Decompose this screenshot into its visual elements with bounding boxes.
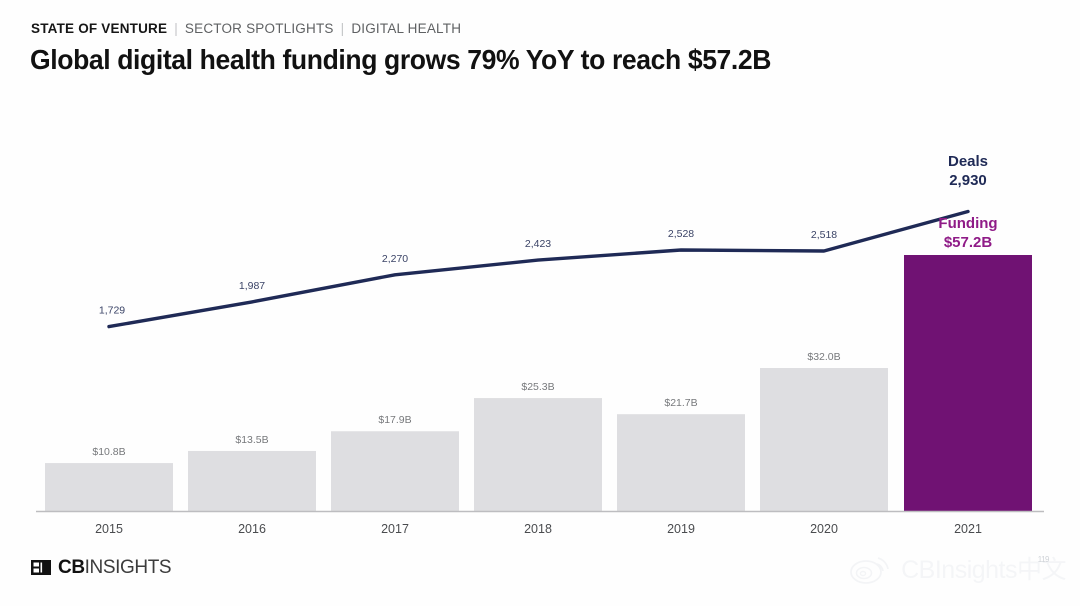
bar-label-2018: $25.3B bbox=[521, 381, 554, 393]
deals-label-2017: 2,270 bbox=[382, 253, 408, 265]
bar-label-2017: $17.9B bbox=[378, 414, 411, 426]
bar-label-2015: $10.8B bbox=[92, 446, 125, 458]
deals-value-labels: 1,729 1,987 2,270 2,423 2,528 2,518 bbox=[99, 228, 837, 317]
x-axis-labels: 2015 2016 2017 2018 2019 2020 2021 bbox=[95, 522, 982, 536]
deals-label-2018: 2,423 bbox=[525, 238, 551, 250]
bar-2020 bbox=[760, 368, 888, 511]
bar-2021 bbox=[904, 255, 1032, 512]
bar-2017 bbox=[331, 431, 459, 511]
slide: STATE OF VENTURE | SECTOR SPOTLIGHTS | D… bbox=[0, 0, 1080, 606]
deals-label-2020: 2,518 bbox=[811, 229, 837, 241]
breadcrumb-item-digital-health: DIGITAL HEALTH bbox=[351, 21, 461, 36]
breadcrumb-item-sector-spotlights: SECTOR SPOTLIGHTS bbox=[185, 21, 334, 36]
callout-deals: Deals 2,930 bbox=[948, 153, 988, 189]
cbinsights-logo: CBINSIGHTS bbox=[31, 558, 171, 577]
bar-2016 bbox=[188, 451, 316, 512]
cbinsights-square-mark-icon bbox=[31, 560, 51, 575]
deals-label-2015: 1,729 bbox=[99, 305, 125, 317]
x-label-2015: 2015 bbox=[95, 522, 123, 536]
logo-text-insights: INSIGHTS bbox=[85, 557, 172, 578]
bar-2018 bbox=[474, 398, 602, 511]
cbinsights-wordmark: CBINSIGHTS bbox=[58, 558, 171, 577]
breadcrumb-separator-1: | bbox=[174, 21, 178, 36]
funding-deals-chart: $10.8B $13.5B $17.9B $25.3B $21.7B $32.0… bbox=[0, 104, 1080, 544]
callout-funding-value: $57.2B bbox=[944, 234, 993, 251]
bar-label-2019: $21.7B bbox=[664, 397, 697, 409]
chart-container: $10.8B $13.5B $17.9B $25.3B $21.7B $32.0… bbox=[0, 104, 1080, 544]
x-label-2019: 2019 bbox=[667, 522, 695, 536]
deals-label-2019: 2,528 bbox=[668, 228, 694, 240]
callout-funding: Funding $57.2B bbox=[938, 215, 997, 251]
weibo-eye-icon bbox=[849, 551, 893, 590]
deals-label-2016: 1,987 bbox=[239, 280, 265, 292]
weibo-watermark: CBInsights中文 bbox=[849, 551, 1066, 590]
breadcrumb-separator-2: | bbox=[341, 21, 345, 36]
x-label-2018: 2018 bbox=[524, 522, 552, 536]
callout-funding-label: Funding bbox=[938, 215, 997, 232]
x-label-2017: 2017 bbox=[381, 522, 409, 536]
x-label-2021: 2021 bbox=[954, 522, 982, 536]
page-title: Global digital health funding grows 79% … bbox=[30, 44, 771, 76]
bar-label-2016: $13.5B bbox=[235, 434, 268, 446]
breadcrumb: STATE OF VENTURE | SECTOR SPOTLIGHTS | D… bbox=[31, 21, 461, 36]
x-label-2020: 2020 bbox=[810, 522, 838, 536]
callout-deals-label: Deals bbox=[948, 153, 988, 170]
watermark-badge: 119 bbox=[1038, 555, 1049, 564]
bar-2019 bbox=[617, 414, 745, 511]
x-label-2016: 2016 bbox=[238, 522, 266, 536]
callout-deals-value: 2,930 bbox=[949, 172, 987, 189]
deals-trend-line bbox=[109, 212, 968, 327]
breadcrumb-kicker: STATE OF VENTURE bbox=[31, 21, 167, 36]
logo-text-cb: CB bbox=[58, 557, 85, 578]
bar-2015 bbox=[45, 463, 173, 511]
bar-label-2020: $32.0B bbox=[807, 351, 840, 363]
